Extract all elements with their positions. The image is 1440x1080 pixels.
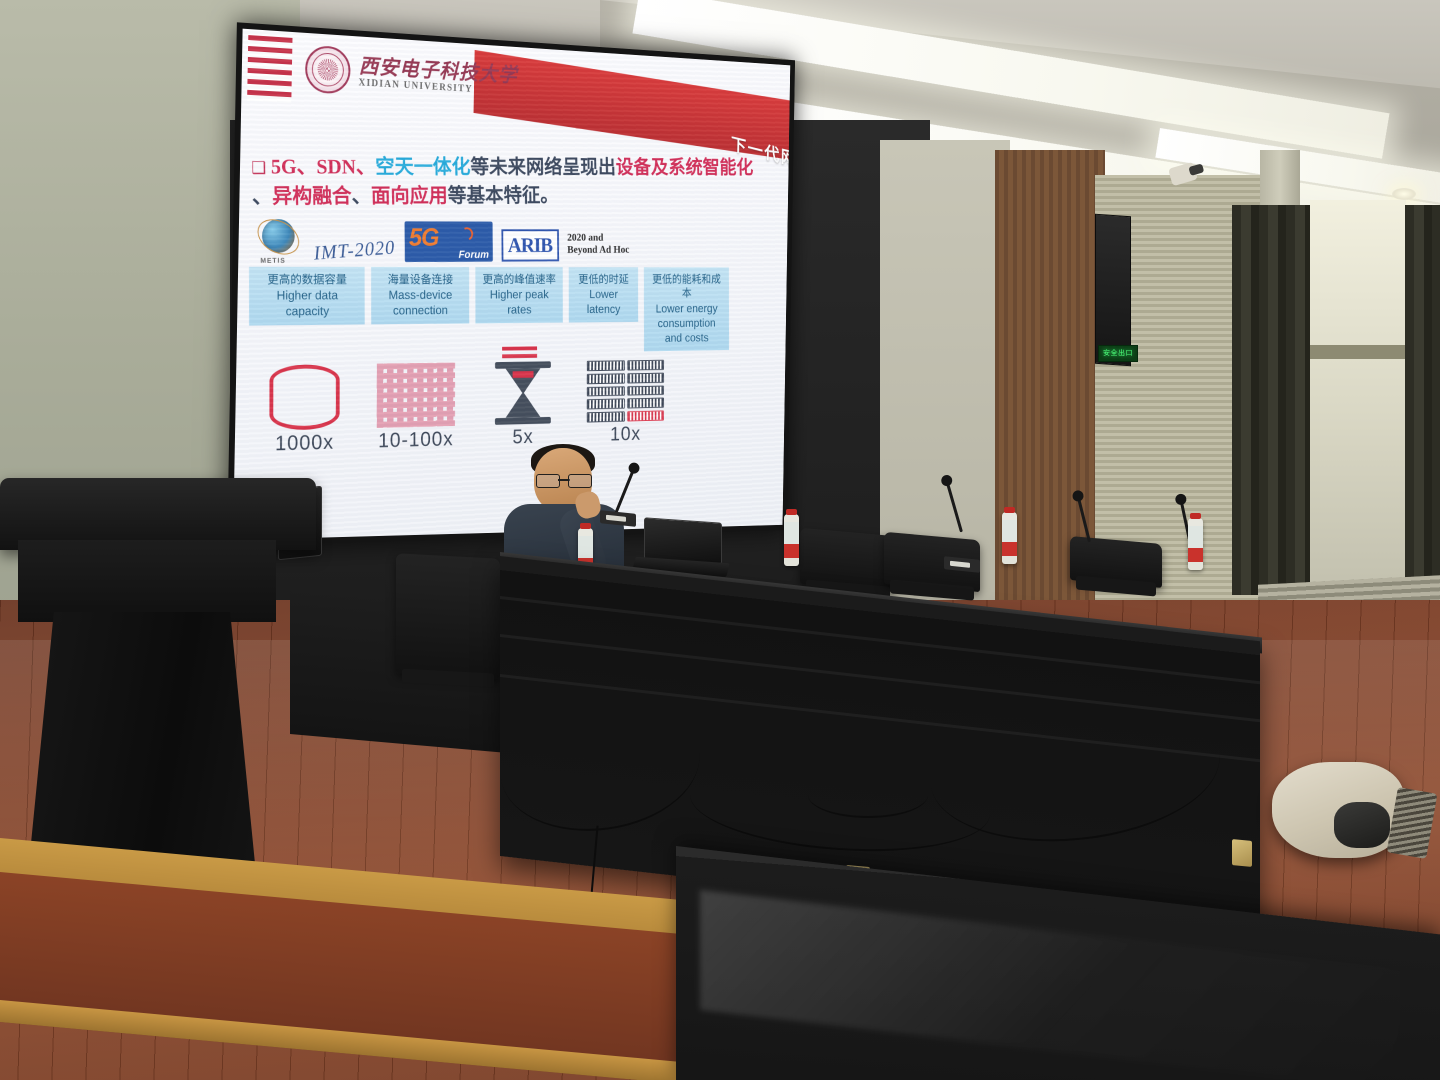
bullet-l2-seg2: 异构融合 bbox=[272, 185, 352, 208]
feature-box-1-en: Higher data capacity bbox=[277, 288, 338, 318]
bullet-l1-seg2: 空天一体化 bbox=[375, 156, 471, 178]
lecture-hall-scene: 安全出口 下一代网络 西安电子科技大学 XIDIAN UNIVERSITY bbox=[0, 0, 1440, 1080]
bullet-l2-seg1: 、 bbox=[252, 185, 273, 208]
adhoc-line-2: Beyond Ad Hoc bbox=[567, 244, 629, 257]
bullet-l1-seg4: 设备及系统智能化 bbox=[616, 157, 754, 178]
exit-sign: 安全出口 bbox=[1098, 345, 1138, 362]
metric-multiplier-2: 10-100x bbox=[363, 428, 469, 454]
feature-box-1-cn: 更高的数据容量 bbox=[256, 272, 358, 287]
slide-header-red-bar: 下一代网络 bbox=[474, 50, 791, 164]
feature-box-4-en: Lower latency bbox=[587, 288, 620, 316]
feature-box-3-en: Higher peak rates bbox=[490, 288, 549, 317]
curtain-right bbox=[1405, 205, 1440, 600]
xidian-crest-icon bbox=[305, 45, 351, 95]
device-grid-icon bbox=[377, 363, 455, 428]
battery-array-icon bbox=[587, 360, 664, 423]
feature-box-2: 海量设备连接 Mass-device connection bbox=[371, 267, 469, 325]
exit-sign-label: 安全出口 bbox=[1103, 350, 1133, 357]
eyeglasses-icon bbox=[536, 474, 592, 486]
podium-neck bbox=[18, 540, 276, 622]
feature-box-5: 更低的能耗和成本 Lower energy consumption and co… bbox=[644, 267, 729, 351]
metric-cell-1: 1000x bbox=[249, 364, 359, 457]
bullet-l2-seg4: 面向应用 bbox=[371, 185, 448, 208]
cable-loop bbox=[808, 772, 928, 818]
laptop-1[interactable] bbox=[644, 517, 722, 564]
jacket-on-desk[interactable] bbox=[1272, 762, 1404, 858]
chair-4[interactable] bbox=[1070, 536, 1162, 588]
metric-multiplier-4: 10x bbox=[577, 422, 674, 447]
window-mullion bbox=[1310, 345, 1406, 359]
feature-box-2-cn: 海量设备连接 bbox=[378, 272, 463, 287]
slide-hatch-decor bbox=[247, 35, 292, 103]
water-bottle-4[interactable] bbox=[1188, 518, 1203, 570]
feature-box-2-en: Mass-device connection bbox=[389, 288, 453, 317]
hourglass-icon bbox=[495, 362, 551, 426]
curtain-left bbox=[1232, 205, 1310, 595]
feature-box-5-en: Lower energy consumption and costs bbox=[656, 301, 718, 344]
bullet-l2-seg3: 、 bbox=[351, 185, 371, 208]
bullet-l2-seg5: 等基本特征。 bbox=[447, 185, 558, 207]
chair-2[interactable] bbox=[800, 528, 896, 592]
feature-box-1: 更高的数据容量 Higher data capacity bbox=[249, 266, 365, 325]
metric-cell-3: 5x bbox=[472, 361, 573, 450]
window bbox=[1310, 200, 1406, 595]
bullet-l1-seg1: 5G、SDN、 bbox=[271, 155, 376, 179]
metric-icon-row: 1000x 10-100x 5x bbox=[236, 350, 785, 458]
bullet-l1-seg3: 等未来网络呈现出 bbox=[470, 156, 616, 178]
metric-cell-2: 10-100x bbox=[363, 363, 469, 454]
arib-logo-label: ARIB bbox=[508, 233, 553, 258]
feature-box-5-cn: 更低的能耗和成本 bbox=[650, 272, 724, 300]
water-bottle-3[interactable] bbox=[1002, 512, 1017, 564]
bullet-line-2: 、异构融合、面向应用等基本特征。 bbox=[252, 182, 778, 212]
feature-box-4: 更低的时延 Lower latency bbox=[569, 267, 638, 323]
5g-forum-logo-sub: Forum bbox=[458, 249, 489, 261]
chair-1[interactable] bbox=[396, 553, 500, 678]
stage-edge-outlet-3[interactable] bbox=[1232, 839, 1252, 867]
5g-forum-wave-icon bbox=[459, 225, 475, 242]
feature-box-3: 更高的峰值速率 Higher peak rates bbox=[475, 267, 562, 324]
water-bottle-2[interactable] bbox=[784, 514, 799, 566]
arib-logo-icon: ARIB bbox=[501, 229, 559, 261]
metric-cell-4: 10x bbox=[577, 360, 674, 447]
adhoc-line-1: 2020 and bbox=[567, 231, 629, 244]
slide-bullet-block: ❑5G、SDN、空天一体化等未来网络呈现出设备及系统智能化 、异构融合、面向应用… bbox=[239, 148, 788, 212]
feature-box-3-cn: 更高的峰值速率 bbox=[482, 272, 557, 287]
metric-multiplier-1: 1000x bbox=[249, 431, 359, 458]
metis-logo-icon: METIS bbox=[252, 219, 304, 263]
feature-box-row: 更高的数据容量 Higher data capacity 海量设备连接 Mass… bbox=[237, 260, 786, 357]
data-cylinder-icon bbox=[269, 364, 339, 430]
bullet-line-1: ❑5G、SDN、空天一体化等未来网络呈现出设备及系统智能化 bbox=[251, 152, 777, 182]
feature-box-4-cn: 更低的时延 bbox=[575, 272, 632, 286]
5g-forum-logo-main: 5G bbox=[409, 222, 439, 252]
downlight-2 bbox=[1392, 188, 1416, 200]
bullet-marker-icon: ❑ bbox=[251, 158, 266, 177]
adhoc-logo-text: 2020 and Beyond Ad Hoc bbox=[567, 231, 629, 261]
consortium-logos: METIS IMT-2020 5G Forum ARIB 2020 and Be… bbox=[239, 209, 788, 263]
5g-forum-logo-icon: 5G Forum bbox=[404, 221, 492, 262]
wall-speaker bbox=[1095, 214, 1131, 367]
